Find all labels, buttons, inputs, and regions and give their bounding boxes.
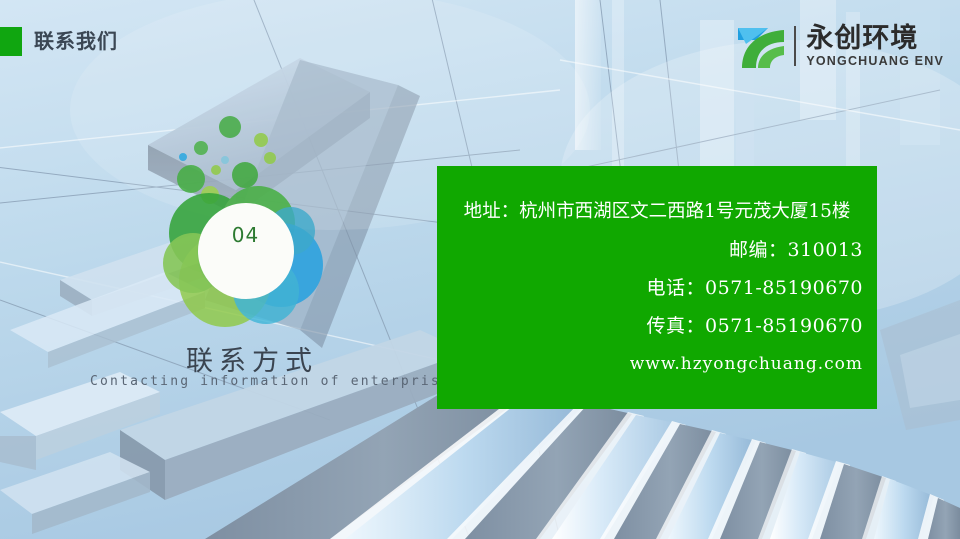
contact-line-postcode: 邮编：310013: [451, 231, 863, 269]
header-green-marker: [0, 27, 22, 56]
section-number-badge: 04: [163, 113, 328, 328]
contact-info-panel: 地址：杭州市西湖区文二西路1号元茂大厦15楼 邮编：310013 电话：0571…: [437, 166, 877, 409]
page-title: 联系我们: [34, 27, 118, 56]
contact-line-address: 地址：杭州市西湖区文二西路1号元茂大厦15楼: [451, 193, 863, 231]
logo-swoosh-icon: [734, 22, 788, 70]
logo-divider: [794, 26, 796, 66]
contact-line-fax: 传真：0571-85190670: [451, 307, 863, 345]
slide-canvas: 联系我们 永创环境 YONGCHUANG ENV: [0, 0, 960, 539]
company-logo: 永创环境 YONGCHUANG ENV: [734, 20, 944, 72]
logo-name-cn: 永创环境: [806, 24, 944, 53]
contact-line-website: www.hzyongchuang.com: [451, 345, 863, 383]
badge-bubbles-graphic: [163, 113, 328, 328]
contact-line-phone: 电话：0571-85190670: [451, 269, 863, 307]
section-title-en: Contacting information of enterprise: [90, 367, 451, 397]
logo-name-en: YONGCHUANG ENV: [806, 54, 944, 68]
